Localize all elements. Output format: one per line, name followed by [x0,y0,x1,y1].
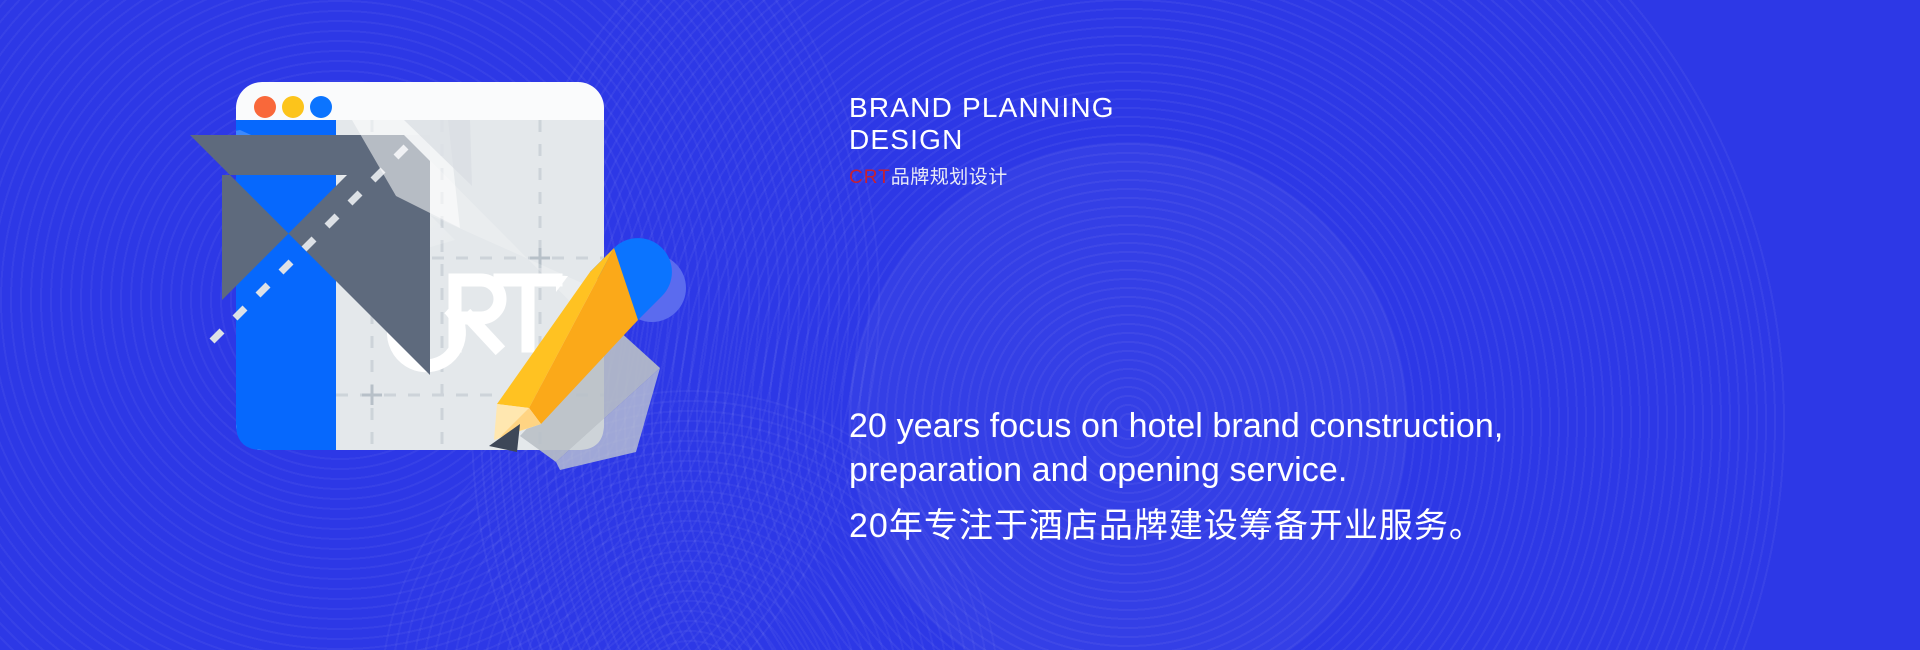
eyebrow-chinese-subtitle: CRT品牌规划设计 [849,166,1489,190]
window-traffic-lights [254,96,332,118]
brand-planning-banner: BRAND PLANNING DESIGN CRT品牌规划设计 20 years… [0,0,1920,650]
maximize-dot [310,96,332,118]
brand-design-illustration [0,0,800,650]
headline-chinese: 20年专注于酒店品牌建设筹备开业服务。 [849,504,1729,548]
eyebrow-english-title: BRAND PLANNING DESIGN [849,92,1489,156]
background-rings-right-core [848,142,1408,650]
close-dot [254,96,276,118]
headline-text-block: 20 years focus on hotel brand constructi… [849,404,1729,548]
minimize-dot [282,96,304,118]
brand-mark-crt: CRT [849,167,891,188]
eyebrow-chinese-label: 品牌规划设计 [891,167,1008,188]
eyebrow-text-block: BRAND PLANNING DESIGN CRT品牌规划设计 [849,92,1489,190]
headline-english: 20 years focus on hotel brand constructi… [849,404,1729,492]
